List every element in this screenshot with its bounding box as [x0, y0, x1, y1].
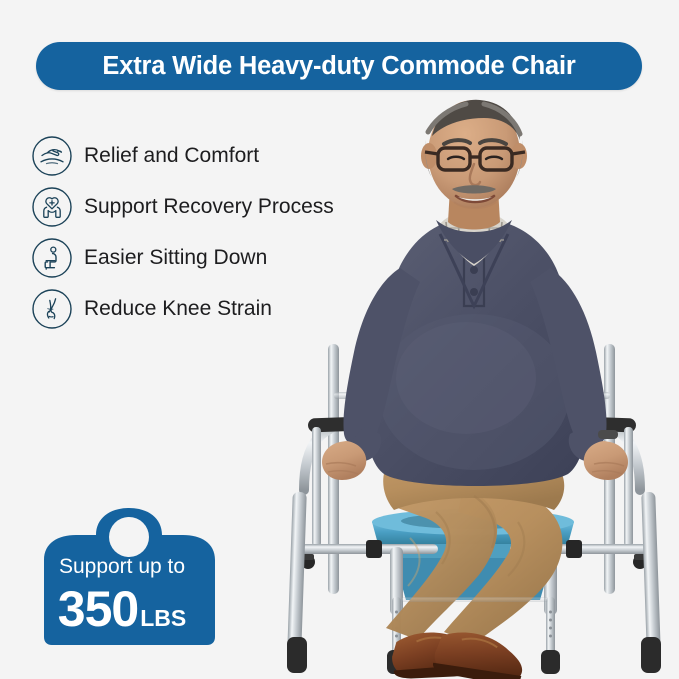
feature-label: Reduce Knee Strain [84, 297, 272, 321]
weight-capacity-badge: Support up to 350LBS [36, 505, 222, 647]
person-sitting-toilet-icon [30, 236, 74, 280]
badge-weight-unit: LBS [140, 605, 186, 631]
page-title: Extra Wide Heavy-duty Commode Chair [102, 52, 575, 81]
badge-value-row: 350LBS [36, 580, 208, 638]
knee-joint-icon [30, 287, 74, 331]
title-banner: Extra Wide Heavy-duty Commode Chair [36, 42, 642, 90]
man-seated-in-commode-chair-illustration [268, 92, 679, 679]
product-infographic: Extra Wide Heavy-duty Commode Chair Reli… [0, 0, 679, 679]
badge-caption: Support up to [36, 555, 208, 579]
hands-heart-cross-icon [30, 185, 74, 229]
badge-weight-value: 350 [58, 581, 138, 637]
feature-label: Relief and Comfort [84, 144, 259, 168]
product-photo [268, 92, 679, 679]
hand-relief-icon [30, 134, 74, 178]
feature-label: Easier Sitting Down [84, 246, 267, 270]
